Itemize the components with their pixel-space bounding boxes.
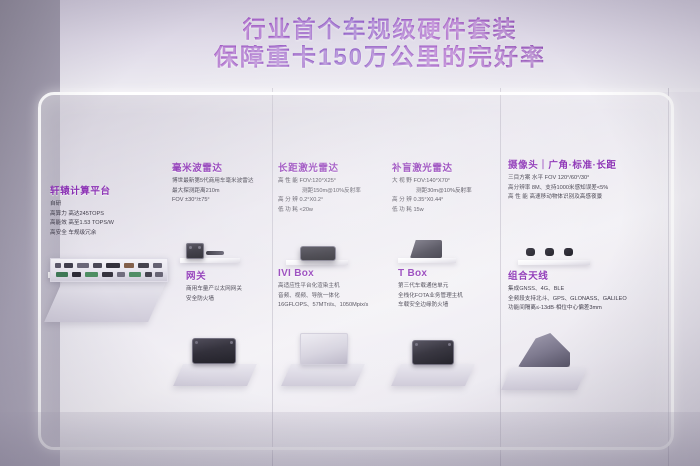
- device-ivi-box: [300, 246, 336, 261]
- headline-line-1: 行业首个车规级硬件套装: [243, 17, 518, 42]
- headline-banner: 行业首个车规级硬件套装 保障重卡150万公里的完好率: [60, 0, 700, 88]
- block-line: 车载安全边缘防火墙: [398, 301, 463, 311]
- shelf-combo-antenna: [518, 260, 590, 265]
- block-line: 功能间隔离≤-13dB·相位中心偏差3mm: [508, 304, 627, 314]
- block-t-box: T Box 第三代车载通信单元 全栈化FOTA业务管理主机 车载安全边缘防火墙: [398, 268, 463, 311]
- device-gateway-bottom: [192, 338, 236, 364]
- block-line: 第三代车载通信单元: [398, 282, 463, 292]
- block-line: 音频、视频、导航一体化: [278, 292, 368, 302]
- block-title-camera: 摄像头｜广角·标准·长距: [508, 157, 617, 171]
- block-line: 测距30m@10%反射率: [392, 187, 472, 197]
- block-line: 高 分 辨 0.35°X0.44°: [392, 196, 472, 206]
- block-line: 安全防火墙: [186, 295, 242, 305]
- block-line: 最大探测距离210m: [172, 187, 253, 197]
- device-t-box-bottom: [412, 340, 454, 365]
- block-mmwave-radar: 毫米波雷达 博世最新第5代商用车毫米波雷达 最大探测距离210m FOV ±30…: [172, 160, 253, 206]
- plinth-compute-platform: [44, 278, 168, 322]
- block-line: 高 性 能 高速移动物体识别及高感夜景: [508, 193, 617, 203]
- block-line: FOV ±30°/±75°: [172, 196, 253, 206]
- device-compute-platform: [50, 258, 168, 282]
- block-title-t-box: T Box: [398, 268, 463, 279]
- block-line: 高安全 车规级冗余: [50, 229, 114, 239]
- device-antenna-unit-3: [564, 248, 573, 256]
- device-gateway-connector: [206, 251, 224, 255]
- block-line: 全栈化FOTA业务管理主机: [398, 292, 463, 302]
- block-long-range-lidar: 长距激光雷达 高 性 能 FOV:120°X25° 测距150m@10%反射率 …: [278, 160, 361, 215]
- block-title-blind-spot-lidar: 补盲激光雷达: [392, 160, 472, 174]
- block-line: 大 视 野 FOV:140°X70°: [392, 177, 472, 187]
- block-line: 集成GNSS、4G、BLE: [508, 285, 627, 295]
- device-antenna-unit-2: [545, 248, 554, 256]
- block-title-mmwave-radar: 毫米波雷达: [172, 160, 253, 174]
- plinth-bottom-2: [281, 364, 365, 386]
- block-line: 商用车量产以太网网关: [186, 285, 242, 295]
- block-line: 高 分 辨 0.2°X0.2°: [278, 196, 361, 206]
- block-compute-platform: 轩辕计算平台 自研 高算力 高达245TOPS 高能效 高至1.53 TOPS/…: [50, 183, 114, 238]
- plinth-bottom-4: [501, 368, 587, 390]
- block-line: 高算力 高达245TOPS: [50, 210, 114, 220]
- shelf-t-box: [398, 258, 456, 263]
- block-title-long-range-lidar: 长距激光雷达: [278, 160, 361, 174]
- block-title-combo-antenna: 组合天线: [508, 268, 627, 282]
- device-ivi-box-bottom: [300, 333, 348, 365]
- plinth-bottom-1: [173, 364, 257, 386]
- block-line: 三目方案 水平 FOV 120°/60°/30°: [508, 174, 617, 184]
- block-line: 低 功 耗 <20w: [278, 206, 361, 216]
- block-camera: 摄像头｜广角·标准·长距 三目方案 水平 FOV 120°/60°/30° 高分…: [508, 157, 617, 203]
- block-combo-antenna: 组合天线 集成GNSS、4G、BLE 全频段支持北斗、GPS、GLONASS、G…: [508, 268, 627, 314]
- plinth-bottom-3: [391, 364, 475, 386]
- block-title-compute-platform: 轩辕计算平台: [50, 183, 114, 197]
- block-gateway: 网关 商用车量产以太网网关 安全防火墙: [186, 268, 242, 304]
- floor-shadow: [0, 412, 700, 466]
- exhibition-display-board: 行业首个车规级硬件套装 保障重卡150万公里的完好率: [0, 0, 700, 466]
- headline-line-2: 保障重卡150万公里的完好率: [214, 45, 546, 71]
- block-line: 16GFLOPS、57MTri/s、1050Mpix/s: [278, 301, 368, 311]
- block-line: 高适应性平台化渲染主机: [278, 282, 368, 292]
- block-line: 低 功 耗 15w: [392, 206, 472, 216]
- block-line: 高分辨率 8M、支持1000米感知误差<5%: [508, 184, 617, 194]
- block-line: 测距150m@10%反射率: [278, 187, 361, 197]
- block-blind-spot-lidar: 补盲激光雷达 大 视 野 FOV:140°X70° 测距30m@10%反射率 高…: [392, 160, 472, 215]
- block-ivi-box: IVI Box 高适应性平台化渲染主机 音频、视频、导航一体化 16GFLOPS…: [278, 268, 368, 311]
- block-title-gateway: 网关: [186, 268, 242, 282]
- block-title-ivi-box: IVI Box: [278, 268, 368, 279]
- block-line: 全频段支持北斗、GPS、GLONASS、GALILEO: [508, 295, 627, 305]
- device-antenna-unit-1: [526, 248, 535, 256]
- block-line: 博世最新第5代商用车毫米波雷达: [172, 177, 253, 187]
- block-line: 高 性 能 FOV:120°X25°: [278, 177, 361, 187]
- device-gateway: [186, 243, 204, 259]
- block-line: 高能效 高至1.53 TOPS/W: [50, 219, 114, 229]
- block-line: 自研: [50, 200, 114, 210]
